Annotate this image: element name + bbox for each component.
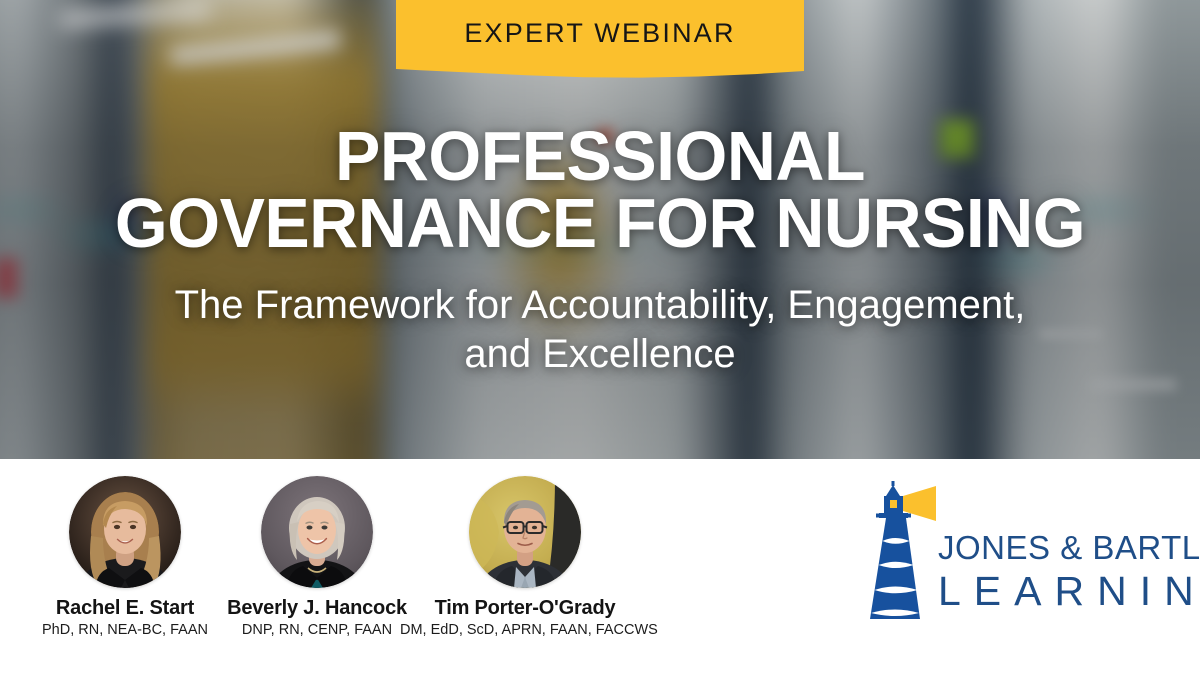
speaker-card: Tim Porter-O'Grady DM, EdD, ScD, APRN, F… xyxy=(400,476,650,639)
speaker-name: Tim Porter-O'Grady xyxy=(400,597,650,619)
headshot-tim-porter-ogrady-illustration xyxy=(469,476,581,588)
avatar xyxy=(261,476,373,588)
brand-wordmark: JONES & BARTLETT LEARNING xyxy=(938,531,1200,612)
headshot-beverly-hancock-illustration xyxy=(261,476,373,588)
lighthouse-icon xyxy=(862,479,942,621)
brand-logo: JONES & BARTLETT LEARNING xyxy=(862,479,1182,629)
speaker-list: Rachel E. Start PhD, RN, NEA-BC, FAAN xyxy=(0,459,830,675)
hero-section: PROFESSIONAL GOVERNANCE FOR NURSING The … xyxy=(0,0,1200,459)
page-title: PROFESSIONAL GOVERNANCE FOR NURSING xyxy=(105,123,1094,257)
lighthouse-tower xyxy=(870,518,920,619)
brand-name-line-1: JONES & BARTLETT xyxy=(938,531,1200,564)
speaker-credentials: DM, EdD, ScD, APRN, FAAN, FACCWS xyxy=(400,622,650,639)
lighthouse-lantern-window xyxy=(890,500,897,508)
footer-section: Rachel E. Start PhD, RN, NEA-BC, FAAN xyxy=(0,459,1200,675)
brand-name-line-2: LEARNING xyxy=(938,571,1200,612)
avatar xyxy=(469,476,581,588)
avatar xyxy=(69,476,181,588)
page-subtitle: The Framework for Accountability, Engage… xyxy=(170,281,1030,379)
expert-webinar-badge: EXPERT WEBINAR xyxy=(396,0,804,78)
expert-webinar-badge-label: EXPERT WEBINAR xyxy=(464,20,735,47)
headshot-rachel-start-illustration xyxy=(69,476,181,588)
webinar-promo-card: PROFESSIONAL GOVERNANCE FOR NURSING The … xyxy=(0,0,1200,675)
